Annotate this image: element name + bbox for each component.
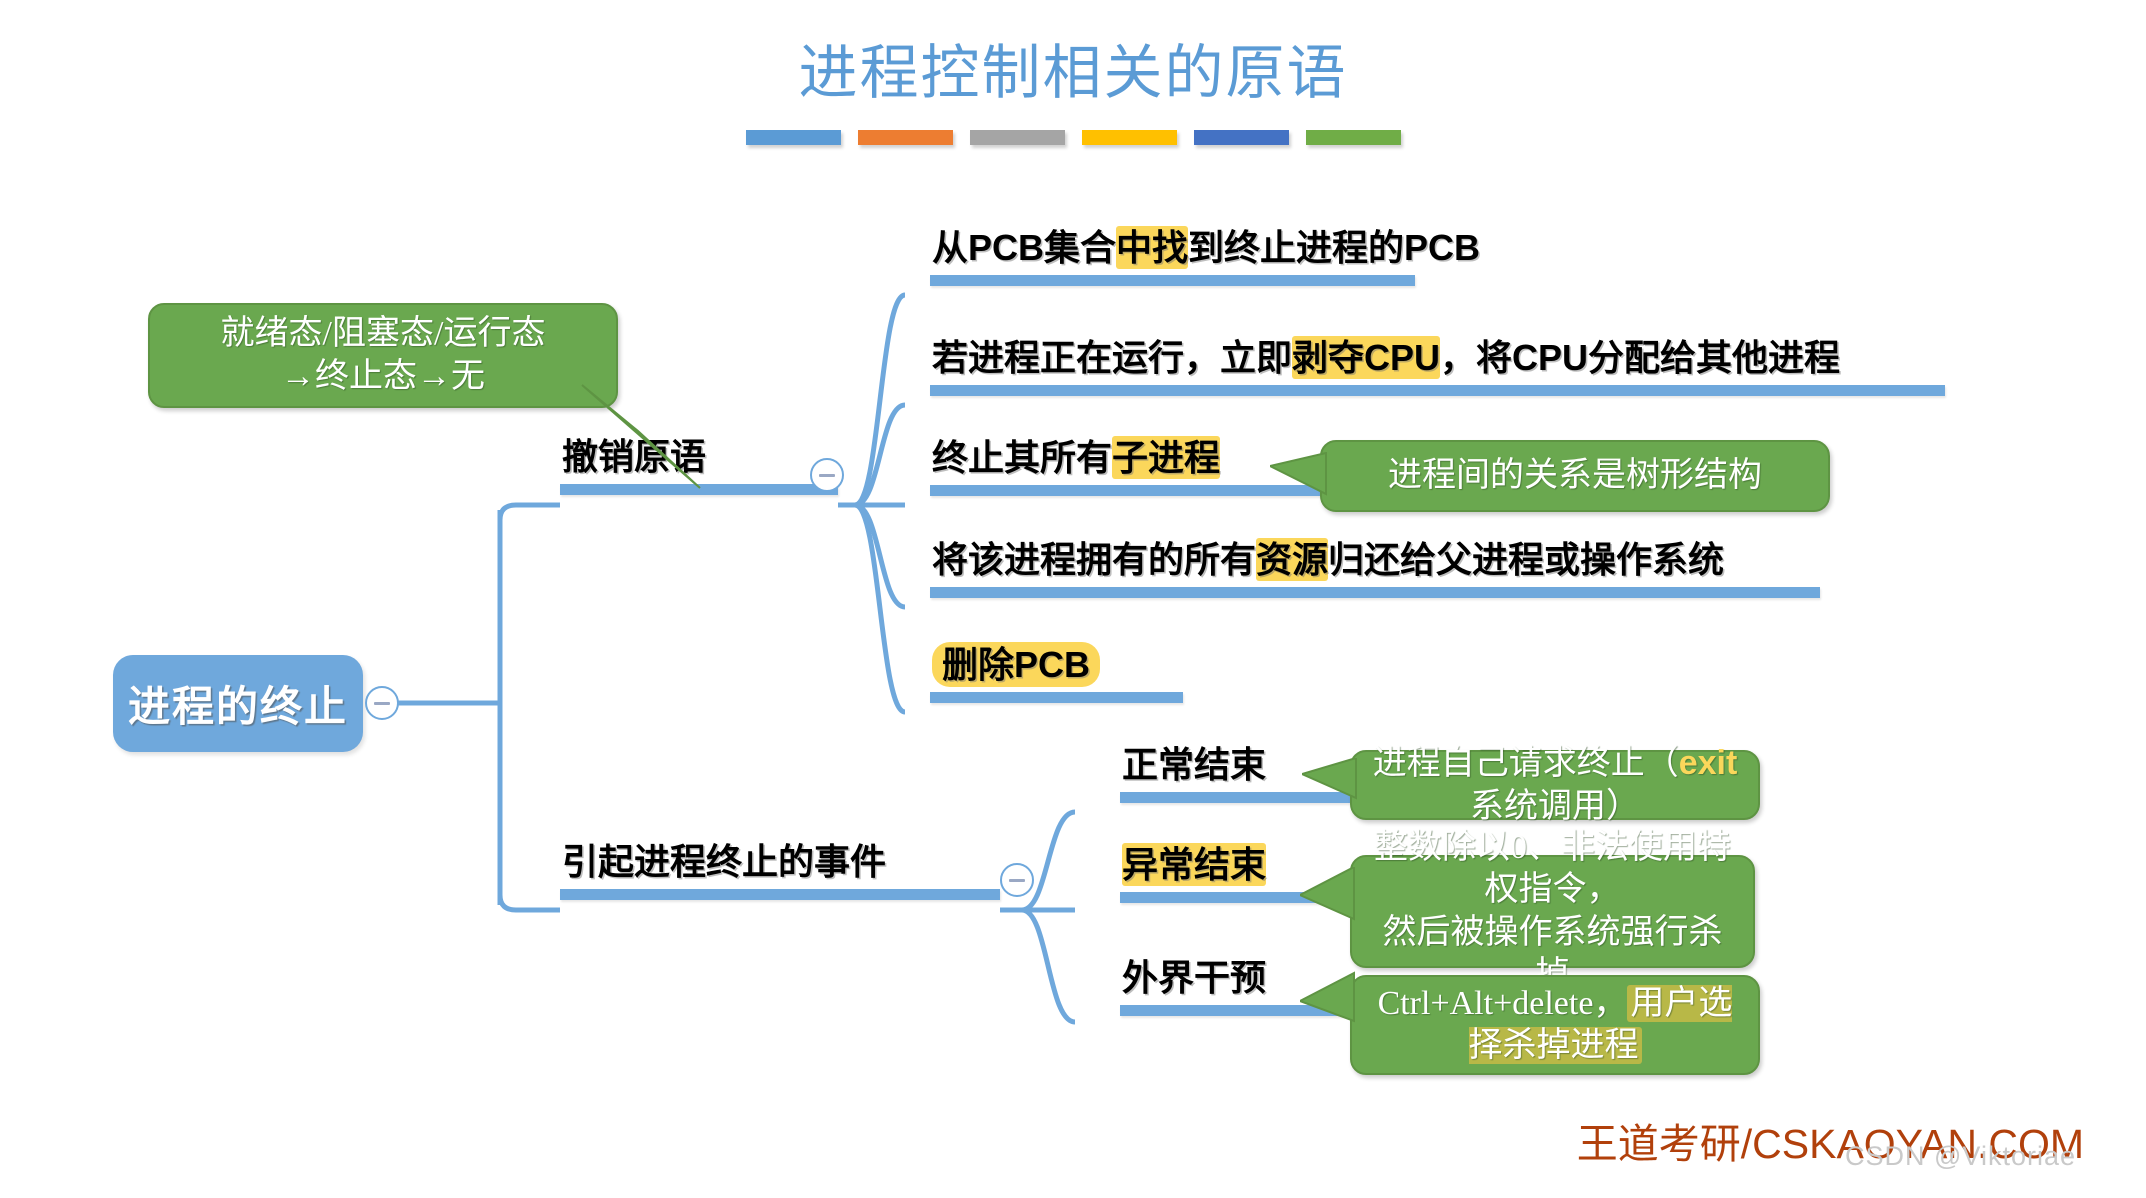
highlight-text: exit [1679,744,1738,782]
callout-external-intervention: Ctrl+Alt+delete，用户选择杀掉进程 [1350,975,1760,1075]
leaf-normal-exit-label: 正常结束 [1120,745,1268,785]
node-underline-bar [930,275,1415,286]
callout-normal-exit: 进程自己请求终止（exit系统调用） [1350,750,1760,820]
title-decor-bars [0,130,2146,145]
title-bar-3 [970,130,1065,145]
node-underline-bar [930,692,1183,703]
title-bar-1 [746,130,841,145]
leaf-find-pcb[interactable]: 从PCB集合中找到终止进程的PCB [930,228,1482,286]
title-bar-5 [1194,130,1289,145]
leaf-delete-pcb[interactable]: 删除PCB [930,645,1183,703]
root-node-label: 进程的终止 [128,673,348,734]
title-bar-6 [1306,130,1401,145]
callout-state-transition: 就绪态/阻塞态/运行态 →终止态→无 [148,303,618,408]
callout-line-1: 整数除以0、非法使用特权指令， [1368,827,1737,912]
branch-node-termination-events[interactable]: 引起进程终止的事件 [560,842,1000,900]
highlight-text: 剥夺CPU [1292,336,1440,379]
leaf-return-resources[interactable]: 将该进程拥有的所有资源归还给父进程或操作系统 [930,540,1820,598]
leaf-delete-pcb-label: 删除PCB [930,645,1102,685]
root-node[interactable]: 进程的终止 [113,655,363,752]
highlight-text: 资源 [1256,538,1328,581]
callout-line-2: →终止态→无 [221,356,546,399]
callout-tail [1300,971,1358,1037]
highlight-text: 中找 [1116,226,1188,269]
csdn-watermark: CSDN @Viktoriae [1845,1141,2076,1172]
highlight-text: 子进程 [1112,436,1220,479]
root-collapse-toggle[interactable] [365,686,399,720]
callout-line-1: 就绪态/阻塞态/运行态 [221,313,546,356]
title-bar-4 [1082,130,1177,145]
leaf-preempt-cpu[interactable]: 若进程正在运行，立即剥夺CPU，将CPU分配给其他进程 [930,338,1945,396]
node-underline-bar [560,889,1000,900]
node-underline-bar [930,587,1820,598]
callout-abnormal-exit: 整数除以0、非法使用特权指令， 然后被操作系统强行杀掉 [1350,855,1755,968]
leaf-preempt-cpu-label: 若进程正在运行，立即剥夺CPU，将CPU分配给其他进程 [930,338,1842,378]
highlight-text: 删除PCB [932,642,1100,687]
callout-state-transition-text: 就绪态/阻塞态/运行态 →终止态→无 [205,307,562,404]
node-underline-bar [930,385,1945,396]
title-bar-2 [858,130,953,145]
highlight-text: 异常结束 [1122,843,1266,886]
callout-tail [1270,452,1330,512]
callout-prefix: Ctrl+Alt+delete， [1378,985,1628,1022]
callout-tail [1302,758,1360,816]
callout-suffix: 系统调用） [1470,788,1640,825]
leaf-abnormal-exit-label: 异常结束 [1120,845,1268,885]
leaf-external-intervention-label: 外界干预 [1120,958,1268,998]
callout-tail [580,383,710,493]
callout-tail [1300,867,1358,937]
branch-events-collapse-toggle[interactable] [1000,863,1034,897]
leaf-return-resources-label: 将该进程拥有的所有资源归还给父进程或操作系统 [930,540,1726,580]
connector-lines [0,0,2146,1198]
callout-normal-exit-text: 进程自己请求终止（exit系统调用） [1352,736,1758,834]
callout-prefix: 进程自己请求终止（ [1373,745,1679,782]
mindmap-canvas: 进程控制相关的原语 [0,0,2146,1198]
page-title: 进程控制相关的原语 [0,40,2146,108]
callout-tree-structure-text: 进程间的关系是树形结构 [1372,449,1778,504]
callout-external-intervention-text: Ctrl+Alt+delete，用户选择杀掉进程 [1352,977,1758,1074]
title-block: 进程控制相关的原语 [0,40,2146,145]
branch-node-termination-events-label: 引起进程终止的事件 [560,842,888,882]
branch-revoke-collapse-toggle[interactable] [810,458,844,492]
callout-tree-structure: 进程间的关系是树形结构 [1320,440,1830,512]
leaf-find-pcb-label: 从PCB集合中找到终止进程的PCB [930,228,1482,268]
leaf-terminate-children-label: 终止其所有子进程 [930,438,1222,478]
